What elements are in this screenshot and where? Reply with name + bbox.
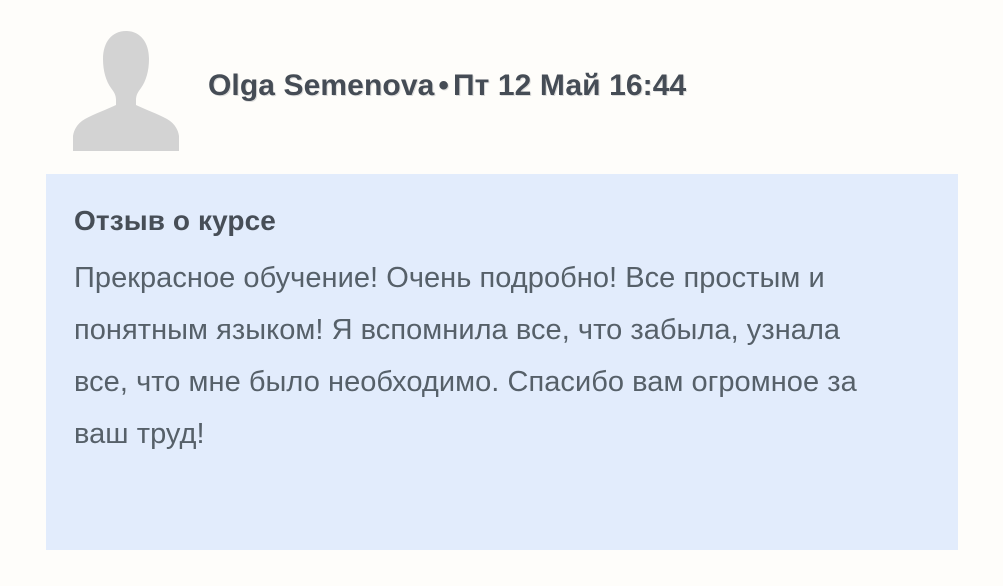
post-author: Olga Semenova <box>208 69 434 102</box>
review-card: Отзыв о курсе Прекрасное обучение! Очень… <box>46 174 958 550</box>
review-title: Отзыв о курсе <box>74 204 930 238</box>
user-silhouette-icon <box>72 29 180 151</box>
post-meta: Olga Semenova•Пт 12 Май 16:44 <box>208 69 686 103</box>
review-post: Olga Semenova•Пт 12 Май 16:44 Отзыв о ку… <box>0 0 1003 586</box>
post-header: Olga Semenova•Пт 12 Май 16:44 <box>46 16 958 156</box>
avatar[interactable] <box>72 29 180 151</box>
review-body: Прекрасное обучение! Очень подробно! Все… <box>74 252 884 460</box>
meta-separator: • <box>434 69 453 102</box>
post-timestamp: Пт 12 Май 16:44 <box>453 69 686 102</box>
